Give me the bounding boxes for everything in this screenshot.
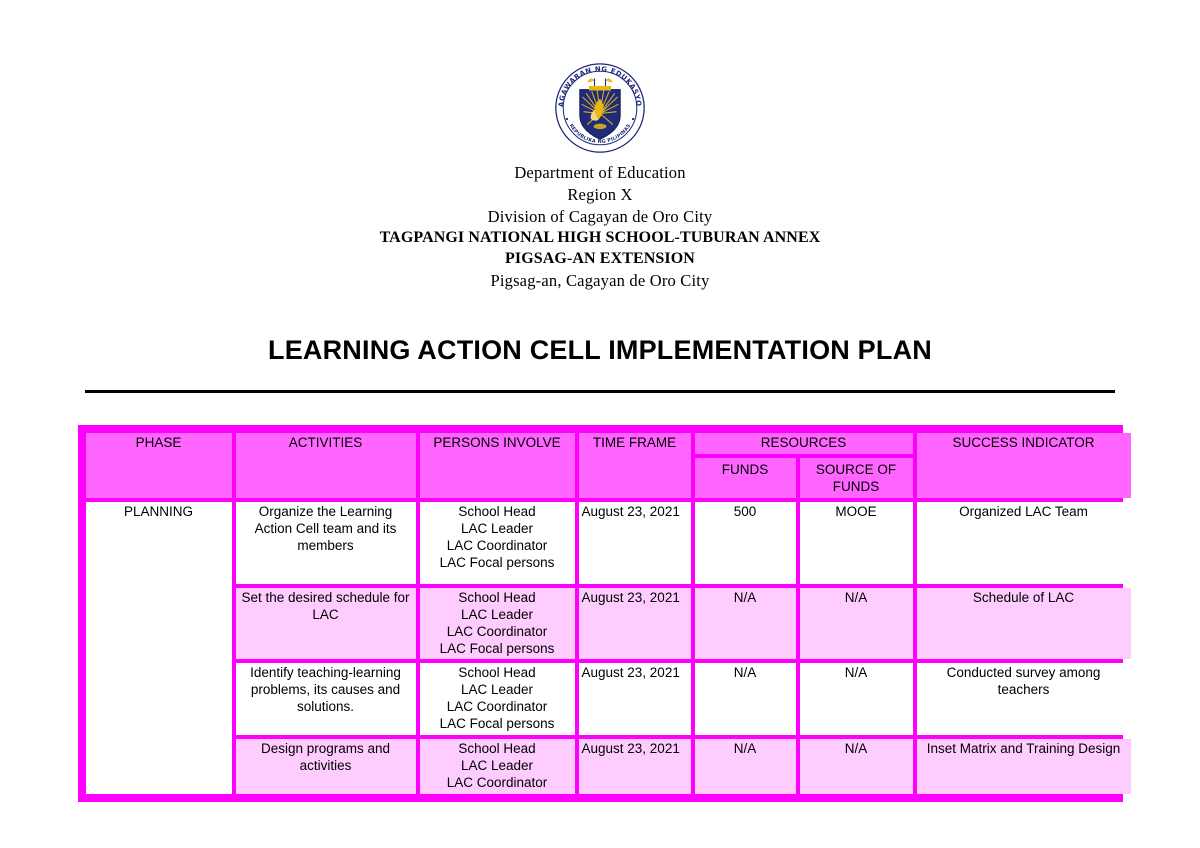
cell-funds: N/A bbox=[695, 588, 796, 660]
table-row: Design programs and activities School He… bbox=[86, 739, 1131, 794]
letterhead: KAGAWARAN NG EDUKASYON REPUBLIKA NG PILI… bbox=[0, 0, 1200, 291]
column-header-time-frame: TIME FRAME bbox=[579, 433, 691, 498]
cell-persons-involve: School HeadLAC LeaderLAC Coordinator bbox=[420, 739, 575, 794]
column-header-persons-involve: PERSONS INVOLVE bbox=[420, 433, 575, 498]
cell-funds: N/A bbox=[695, 663, 796, 735]
cell-activities: Identify teaching-learning problems, its… bbox=[236, 663, 416, 735]
letterhead-department: Department of Education bbox=[0, 162, 1200, 184]
cell-source-of-funds: N/A bbox=[800, 739, 913, 794]
table-row: Identify teaching-learning problems, its… bbox=[86, 663, 1131, 735]
column-header-success-indicator: SUCCESS INDICATOR bbox=[917, 433, 1131, 498]
cell-funds: N/A bbox=[695, 739, 796, 794]
cell-persons-involve: School HeadLAC LeaderLAC CoordinatorLAC … bbox=[420, 588, 575, 660]
cell-activities: Set the desired schedule for LAC bbox=[236, 588, 416, 660]
cell-success-indicator: Conducted survey among teachers bbox=[917, 663, 1131, 735]
cell-persons-involve: School HeadLAC LeaderLAC CoordinatorLAC … bbox=[420, 663, 575, 735]
table-body: PLANNING Organize the Learning Action Ce… bbox=[86, 502, 1131, 794]
column-header-source-of-funds: SOURCE OF FUNDS bbox=[800, 458, 913, 498]
column-header-resources: RESOURCES bbox=[695, 433, 913, 454]
cell-source-of-funds: N/A bbox=[800, 663, 913, 735]
cell-success-indicator: Schedule of LAC bbox=[917, 588, 1131, 660]
cell-phase: PLANNING bbox=[86, 502, 232, 794]
cell-time-frame: August 23, 2021 bbox=[579, 663, 691, 735]
cell-activities: Organize the Learning Action Cell team a… bbox=[236, 502, 416, 584]
cell-funds: 500 bbox=[695, 502, 796, 584]
letterhead-school: TAGPANGI NATIONAL HIGH SCHOOL-TUBURAN AN… bbox=[0, 227, 1200, 248]
column-header-activities: ACTIVITIES bbox=[236, 433, 416, 498]
cell-success-indicator: Inset Matrix and Training Design bbox=[917, 739, 1131, 794]
cell-persons-involve: School HeadLAC LeaderLAC CoordinatorLAC … bbox=[420, 502, 575, 584]
table-header: PHASE ACTIVITIES PERSONS INVOLVE TIME FR… bbox=[86, 433, 1131, 498]
letterhead-extension: PIGSAG-AN EXTENSION bbox=[0, 248, 1200, 269]
cell-time-frame: August 23, 2021 bbox=[579, 588, 691, 660]
cell-source-of-funds: MOOE bbox=[800, 502, 913, 584]
letterhead-division: Division of Cagayan de Oro City bbox=[0, 206, 1200, 228]
seal-container: KAGAWARAN NG EDUKASYON REPUBLIKA NG PILI… bbox=[0, 60, 1200, 156]
title-divider bbox=[85, 390, 1115, 393]
page-title: LEARNING ACTION CELL IMPLEMENTATION PLAN bbox=[0, 335, 1200, 366]
cell-activities: Design programs and activities bbox=[236, 739, 416, 794]
cell-success-indicator: Organized LAC Team bbox=[917, 502, 1131, 584]
table-header-row-main: PHASE ACTIVITIES PERSONS INVOLVE TIME FR… bbox=[86, 433, 1131, 454]
cell-source-of-funds: N/A bbox=[800, 588, 913, 660]
deped-seal-icon: KAGAWARAN NG EDUKASYON REPUBLIKA NG PILI… bbox=[554, 62, 646, 154]
letterhead-lines: Department of Education Region X Divisio… bbox=[0, 162, 1200, 291]
letterhead-address: Pigsag-an, Cagayan de Oro City bbox=[0, 270, 1200, 292]
implementation-plan-table: PHASE ACTIVITIES PERSONS INVOLVE TIME FR… bbox=[82, 429, 1135, 797]
table-row: PLANNING Organize the Learning Action Ce… bbox=[86, 502, 1131, 584]
column-header-funds: FUNDS bbox=[695, 458, 796, 498]
column-header-phase: PHASE bbox=[86, 433, 232, 498]
implementation-plan-table-container: PHASE ACTIVITIES PERSONS INVOLVE TIME FR… bbox=[78, 425, 1123, 801]
document-page: KAGAWARAN NG EDUKASYON REPUBLIKA NG PILI… bbox=[0, 0, 1200, 848]
letterhead-region: Region X bbox=[0, 184, 1200, 206]
table-row: Set the desired schedule for LAC School … bbox=[86, 588, 1131, 660]
cell-time-frame: August 23, 2021 bbox=[579, 502, 691, 584]
cell-time-frame: August 23, 2021 bbox=[579, 739, 691, 794]
